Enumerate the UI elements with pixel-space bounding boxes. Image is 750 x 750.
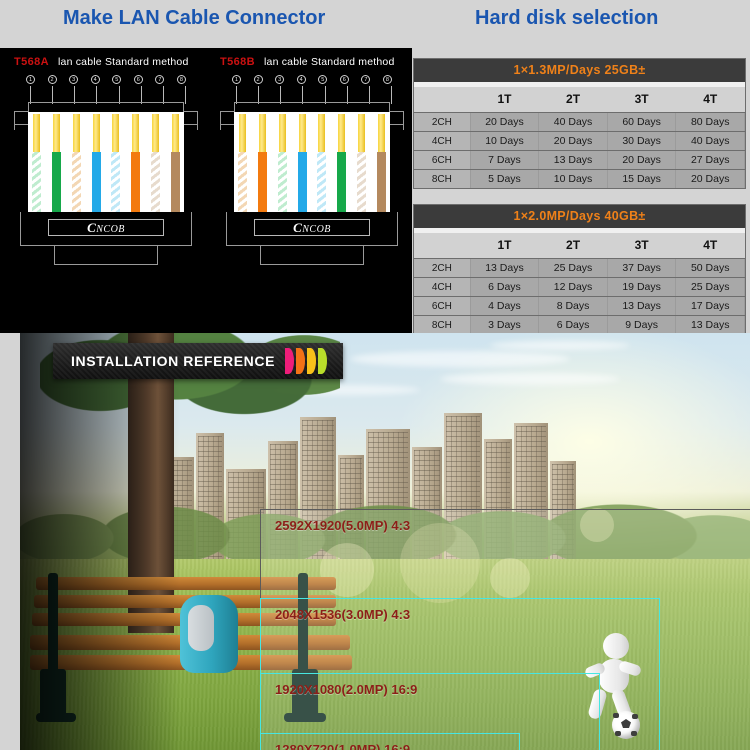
pin-number: 7 xyxy=(361,75,370,84)
gold-contact xyxy=(358,114,365,154)
table-cell: 6 Days xyxy=(539,316,608,335)
brand-logo: CNCOB xyxy=(254,219,370,236)
hdd-table-1.3mp: 1×1.3MP/Days 25GB±1T2T3T4T2CH20 Days40 D… xyxy=(413,58,746,189)
capacity-table: 1T2T3T4T2CH13 Days25 Days37 Days50 Days4… xyxy=(414,233,745,334)
gold-contact xyxy=(73,114,80,154)
column-header: 3T xyxy=(607,87,676,113)
banner-label: INSTALLATION REFERENCE xyxy=(71,353,275,369)
standard-name: T568B xyxy=(220,56,255,68)
pin-number: 2 xyxy=(254,75,263,84)
plug-latch-tab xyxy=(54,245,158,265)
row-header: 4CH xyxy=(414,132,470,151)
pin-number: 6 xyxy=(340,75,349,84)
table-cell: 25 Days xyxy=(539,259,608,278)
plug-shoulder-right xyxy=(390,111,404,125)
table-cell: 20 Days xyxy=(607,151,676,170)
gold-contact xyxy=(378,114,385,154)
row-header: 4CH xyxy=(414,278,470,297)
page-title-lan: Make LAN Cable Connector xyxy=(63,7,325,30)
table-row: 2CH20 Days40 Days60 Days80 Days xyxy=(414,113,745,132)
plug-top-outline xyxy=(234,102,390,112)
plug-latch-tab xyxy=(260,245,364,265)
gold-contact xyxy=(338,114,345,154)
table-cell: 20 Days xyxy=(470,113,539,132)
table-row: 6CH7 Days13 Days20 Days27 Days xyxy=(414,151,745,170)
table-cell: 37 Days xyxy=(607,259,676,278)
table-cell: 60 Days xyxy=(607,113,676,132)
table-row: 8CH3 Days6 Days9 Days13 Days xyxy=(414,316,745,335)
table-cell: 30 Days xyxy=(607,132,676,151)
pin-number: 7 xyxy=(155,75,164,84)
capacity-table: 1T2T3T4T2CH20 Days40 Days60 Days80 Days4… xyxy=(414,87,745,188)
chevron-icon-2 xyxy=(296,348,305,374)
wire-brown xyxy=(377,152,386,212)
wire-orange xyxy=(258,152,267,212)
wire-row xyxy=(28,152,184,212)
gold-contact xyxy=(93,114,100,154)
gold-contact xyxy=(318,114,325,154)
chevron-icon-1 xyxy=(285,348,294,374)
gold-contact xyxy=(112,114,119,154)
product-info-sheet: Make LAN Cable Connector Hard disk selec… xyxy=(0,0,750,750)
table-cell: 20 Days xyxy=(676,170,745,189)
standard-description: lan cable Standard method xyxy=(58,56,189,68)
pin-number: 5 xyxy=(318,75,327,84)
table-cell: 13 Days xyxy=(676,316,745,335)
table-cell: 40 Days xyxy=(539,113,608,132)
table-title: 1×2.0MP/Days 40GB± xyxy=(414,205,745,228)
column-header: 4T xyxy=(676,87,745,113)
table-row: 6CH4 Days8 Days13 Days17 Days xyxy=(414,297,745,316)
wire-white-green xyxy=(32,152,41,212)
wire-white-green xyxy=(278,152,287,212)
gold-contact xyxy=(132,114,139,154)
table-corner-cell xyxy=(414,233,470,259)
table-cell: 25 Days xyxy=(676,278,745,297)
installation-reference-scene: 2592X1920(5.0MP) 4:3 2048X1536(3.0MP) 4:… xyxy=(20,333,750,750)
rj45-connector-t568a: T568Alan cable Standard method12345678CN… xyxy=(6,48,206,333)
plug-shoulder-left xyxy=(14,111,28,125)
table-row: 8CH5 Days10 Days15 Days20 Days xyxy=(414,170,745,189)
row-header: 6CH xyxy=(414,297,470,316)
table-cell: 13 Days xyxy=(539,151,608,170)
column-header: 4T xyxy=(676,233,745,259)
gold-contact xyxy=(259,114,266,154)
plug-top-outline xyxy=(28,102,184,112)
pin-number: 3 xyxy=(69,75,78,84)
table-cell: 12 Days xyxy=(539,278,608,297)
wire-row xyxy=(234,152,390,212)
row-header: 2CH xyxy=(414,259,470,278)
table-row: 4CH6 Days12 Days19 Days25 Days xyxy=(414,278,745,297)
pin-number: 1 xyxy=(232,75,241,84)
pin-number: 2 xyxy=(48,75,57,84)
brand-logo: CNCOB xyxy=(48,219,164,236)
gold-contact-row xyxy=(234,114,390,154)
table-cell: 27 Days xyxy=(676,151,745,170)
lan-cable-diagram-panel: T568Alan cable Standard method12345678CN… xyxy=(0,48,412,333)
installation-reference-banner: INSTALLATION REFERENCE xyxy=(53,343,343,379)
table-cell: 50 Days xyxy=(676,259,745,278)
table-cell: 10 Days xyxy=(470,132,539,151)
wire-blue xyxy=(92,152,101,212)
table-cell: 7 Days xyxy=(470,151,539,170)
column-header: 3T xyxy=(607,233,676,259)
resolution-label-2mp: 1920X1080(2.0MP) 16:9 xyxy=(275,682,417,697)
table-cell: 15 Days xyxy=(607,170,676,189)
table-cell: 20 Days xyxy=(539,132,608,151)
table-cell: 3 Days xyxy=(470,316,539,335)
chevron-icon-4 xyxy=(318,348,327,374)
standard-description: lan cable Standard method xyxy=(264,56,395,68)
row-header: 6CH xyxy=(414,151,470,170)
wire-white-brown xyxy=(151,152,160,212)
row-header: 8CH xyxy=(414,170,470,189)
resolution-label-5mp: 2592X1920(5.0MP) 4:3 xyxy=(275,518,410,533)
rj45-connector-t568b: T568Blan cable Standard method12345678CN… xyxy=(212,48,412,333)
pin-number: 5 xyxy=(112,75,121,84)
gold-contact-row xyxy=(28,114,184,154)
wire-white-orange xyxy=(238,152,247,212)
gold-contact xyxy=(239,114,246,154)
gold-contact xyxy=(279,114,286,154)
wire-green xyxy=(337,152,346,212)
table-cell: 8 Days xyxy=(539,297,608,316)
table-cell: 9 Days xyxy=(607,316,676,335)
pin-number: 8 xyxy=(177,75,186,84)
pin-number: 6 xyxy=(134,75,143,84)
gold-contact xyxy=(152,114,159,154)
wire-orange xyxy=(131,152,140,212)
column-header: 2T xyxy=(539,87,608,113)
column-header: 2T xyxy=(539,233,608,259)
table-cell: 13 Days xyxy=(607,297,676,316)
resolution-label-3mp: 2048X1536(3.0MP) 4:3 xyxy=(275,607,410,622)
plug-shoulder-right xyxy=(184,111,198,125)
table-cell: 6 Days xyxy=(470,278,539,297)
wire-white-blue xyxy=(317,152,326,212)
brand-logo-text: CNCOB xyxy=(87,220,125,236)
backpack xyxy=(180,595,238,673)
table-title: 1×1.3MP/Days 25GB± xyxy=(414,59,745,82)
scene-left-vignette xyxy=(20,333,180,750)
chevron-icon-group xyxy=(285,348,329,374)
wire-white-brown xyxy=(357,152,366,212)
table-row: 4CH10 Days20 Days30 Days40 Days xyxy=(414,132,745,151)
pin-number: 1 xyxy=(26,75,35,84)
table-cell: 5 Days xyxy=(470,170,539,189)
column-header: 1T xyxy=(470,233,539,259)
table-cell: 4 Days xyxy=(470,297,539,316)
standard-name: T568A xyxy=(14,56,49,68)
gold-contact xyxy=(172,114,179,154)
brand-logo-text: CNCOB xyxy=(293,220,331,236)
gold-contact xyxy=(33,114,40,154)
plug-shoulder-left xyxy=(220,111,234,125)
wire-white-blue xyxy=(111,152,120,212)
hdd-table-2.0mp: 1×2.0MP/Days 40GB±1T2T3T4T2CH13 Days25 D… xyxy=(413,204,746,335)
table-cell: 40 Days xyxy=(676,132,745,151)
row-header: 2CH xyxy=(414,113,470,132)
table-row: 2CH13 Days25 Days37 Days50 Days xyxy=(414,259,745,278)
table-cell: 10 Days xyxy=(539,170,608,189)
page-title-hdd: Hard disk selection xyxy=(475,7,658,30)
pin-number: 4 xyxy=(297,75,306,84)
gold-contact xyxy=(299,114,306,154)
column-header: 1T xyxy=(470,87,539,113)
table-corner-cell xyxy=(414,87,470,113)
gold-contact xyxy=(53,114,60,154)
resolution-label-1mp: 1280X720(1.0MP) 16:9 xyxy=(275,742,410,750)
table-cell: 80 Days xyxy=(676,113,745,132)
wire-brown xyxy=(171,152,180,212)
wire-blue xyxy=(298,152,307,212)
table-cell: 13 Days xyxy=(470,259,539,278)
pin-number: 3 xyxy=(275,75,284,84)
table-cell: 17 Days xyxy=(676,297,745,316)
wire-green xyxy=(52,152,61,212)
table-cell: 19 Days xyxy=(607,278,676,297)
pin-number: 4 xyxy=(91,75,100,84)
row-header: 8CH xyxy=(414,316,470,335)
chevron-icon-3 xyxy=(307,348,316,374)
wire-white-orange xyxy=(72,152,81,212)
pin-number: 8 xyxy=(383,75,392,84)
